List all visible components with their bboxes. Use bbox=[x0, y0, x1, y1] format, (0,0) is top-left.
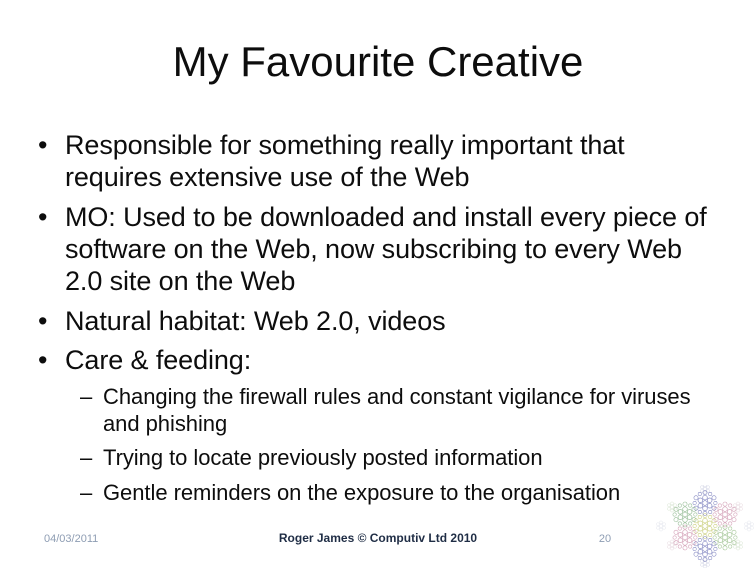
slide-body-list: • Responsible for something really impor… bbox=[38, 129, 718, 509]
sub-bullet-text: Trying to locate previously posted infor… bbox=[103, 444, 718, 471]
bullet-text: Natural habitat: Web 2.0, videos bbox=[65, 305, 718, 337]
footer-page-number: 20 bbox=[560, 532, 650, 546]
sub-bullet-item: – Gentle reminders on the exposure to th… bbox=[38, 479, 718, 507]
bullet-item: • MO: Used to be downloaded and install … bbox=[38, 201, 718, 297]
bullet-text: Responsible for something really importa… bbox=[65, 129, 718, 193]
bullet-dot-icon: • bbox=[38, 201, 65, 233]
sub-bullet-item: – Trying to locate previously posted inf… bbox=[38, 444, 718, 472]
slide-title: My Favourite Creative bbox=[38, 38, 718, 86]
bullet-dash-icon: – bbox=[80, 479, 103, 507]
bullet-text: Care & feeding: bbox=[65, 344, 718, 376]
sub-bullet-text: Gentle reminders on the exposure to the … bbox=[103, 479, 718, 506]
bullet-item: • Responsible for something really impor… bbox=[38, 129, 718, 193]
sub-bullet-item: – Changing the firewall rules and consta… bbox=[38, 383, 718, 437]
bullet-item: • Natural habitat: Web 2.0, videos bbox=[38, 305, 718, 337]
sub-bullet-text: Changing the firewall rules and constant… bbox=[103, 383, 718, 437]
bullet-dash-icon: – bbox=[80, 383, 103, 411]
bullet-dot-icon: • bbox=[38, 129, 65, 161]
slide-canvas: My Favourite Creative • Responsible for … bbox=[0, 0, 756, 568]
bullet-text: MO: Used to be downloaded and install ev… bbox=[65, 201, 718, 297]
bullet-dot-icon: • bbox=[38, 305, 65, 337]
bullet-dot-icon: • bbox=[38, 344, 65, 376]
bullet-item: • Care & feeding: bbox=[38, 344, 718, 376]
bullet-dash-icon: – bbox=[80, 444, 103, 472]
